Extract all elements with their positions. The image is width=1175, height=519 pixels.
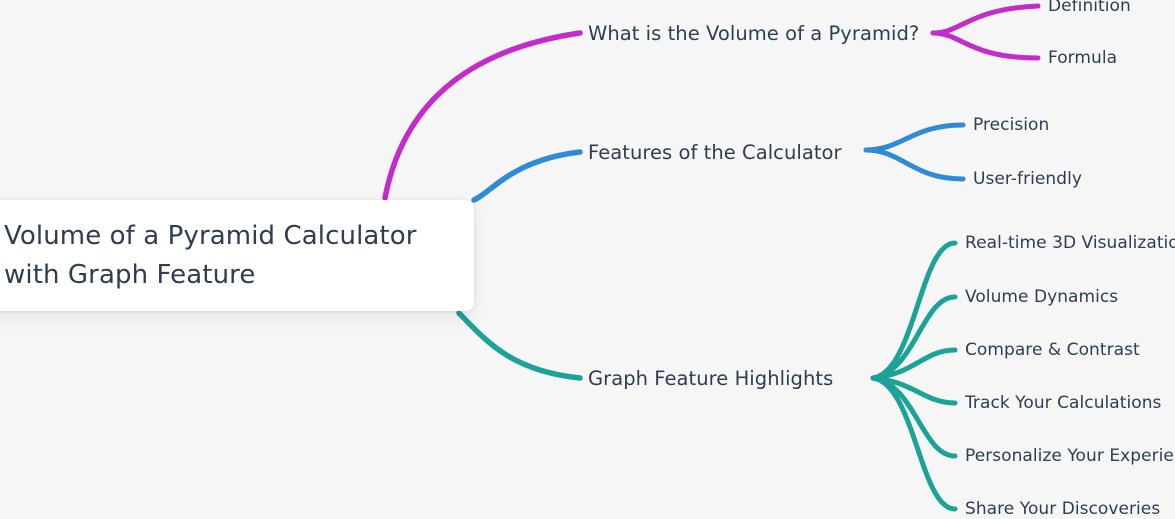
node-volume-dynamics[interactable]: Volume Dynamics	[965, 289, 1118, 306]
edge-features-of-the-calculator-to-precision	[866, 125, 963, 150]
node-graph-feature-highlights[interactable]: Graph Feature Highlights	[588, 369, 833, 389]
root-node-label: Volume of a Pyramid Calculator with Grap…	[0, 217, 446, 294]
mindmap-canvas: Volume of a Pyramid Calculator with Grap…	[0, 0, 1175, 513]
node-features-of-the-calculator[interactable]: Features of the Calculator	[588, 143, 842, 163]
edge-graph-feature-highlights-to-share-your-discoveries	[873, 378, 955, 509]
edge-root-to-graph-feature-highlights	[459, 313, 580, 378]
edge-graph-feature-highlights-to-compare-and-contrast	[873, 350, 955, 378]
node-formula[interactable]: Formula	[1048, 50, 1117, 67]
node-share-your-discoveries[interactable]: Share Your Discoveries	[965, 501, 1160, 518]
root-node[interactable]: Volume of a Pyramid Calculator with Grap…	[0, 200, 474, 311]
node-user-friendly[interactable]: User-friendly	[973, 171, 1082, 188]
edge-graph-feature-highlights-to-track-your-calculations	[873, 378, 955, 403]
node-real-time-3d-visualization[interactable]: Real-time 3D Visualization	[965, 235, 1175, 252]
edge-features-of-the-calculator-to-user-friendly	[866, 150, 963, 179]
edge-root-to-what-is-the-volume-of-a-pyramid	[385, 33, 580, 198]
node-personalize-your-experience[interactable]: Personalize Your Experience	[965, 448, 1175, 465]
edge-root-to-features-of-the-calculator	[474, 152, 580, 200]
edge-graph-feature-highlights-to-real-time-3d-visualization	[873, 243, 955, 378]
node-precision[interactable]: Precision	[973, 117, 1049, 134]
edge-what-is-the-volume-of-a-pyramid-to-definition	[933, 6, 1038, 33]
node-compare-and-contrast[interactable]: Compare & Contrast	[965, 342, 1140, 359]
edge-graph-feature-highlights-to-volume-dynamics	[873, 297, 955, 378]
edge-what-is-the-volume-of-a-pyramid-to-formula	[933, 33, 1038, 58]
edge-graph-feature-highlights-to-personalize-your-experience	[873, 378, 955, 456]
node-definition[interactable]: Definition	[1048, 0, 1131, 15]
node-what-is-the-volume-of-a-pyramid[interactable]: What is the Volume of a Pyramid?	[588, 24, 919, 44]
node-track-your-calculations[interactable]: Track Your Calculations	[965, 395, 1161, 412]
